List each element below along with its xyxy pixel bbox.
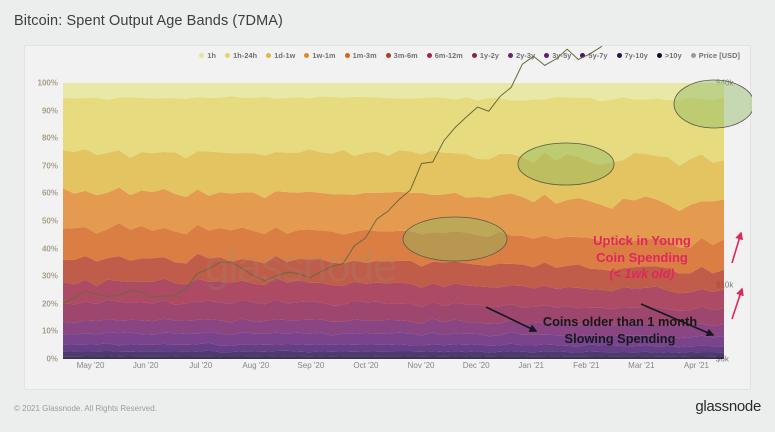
stacked-area-chart [25, 46, 752, 391]
x-axis-tick-label: Nov '20 [408, 361, 435, 370]
highlight-ellipse-3 [674, 80, 752, 128]
x-axis-tick-label: Sep '20 [297, 361, 324, 370]
glassnode-logo: glassnode [695, 398, 761, 415]
x-axis-tick-label: Mar '21 [628, 361, 654, 370]
x-axis-tick-label: Feb '21 [573, 361, 599, 370]
plot-area-wrapper: 0%10%20%30%40%50%60%70%80%90%100% $6k$10… [25, 46, 750, 389]
highlight-ellipse-1 [403, 217, 507, 261]
arrow-uptick-lower [732, 289, 742, 319]
x-axis-tick-label: Oct '20 [353, 361, 378, 370]
chart-card: 1h1h-24h1d-1w1w-1m1m-3m3m-6m6m-12m1y-2y2… [24, 45, 751, 390]
page-title: Bitcoin: Spent Output Age Bands (7DMA) [14, 13, 283, 29]
copyright-text: © 2021 Glassnode. All Rights Reserved. [14, 404, 157, 413]
x-axis-tick-label: Aug '20 [242, 361, 269, 370]
x-axis-tick-label: Dec '20 [463, 361, 490, 370]
x-axis-tick-label: Jul '20 [189, 361, 212, 370]
x-axis-tick-label: Jan '21 [518, 361, 544, 370]
arrow-uptick-upper [732, 233, 741, 263]
x-axis-tick-label: Apr '21 [684, 361, 709, 370]
highlight-ellipse-2 [518, 143, 614, 185]
x-axis-tick-label: May '20 [77, 361, 105, 370]
area-bands-group [63, 83, 724, 359]
x-axis-tick-label: Jun '20 [133, 361, 159, 370]
